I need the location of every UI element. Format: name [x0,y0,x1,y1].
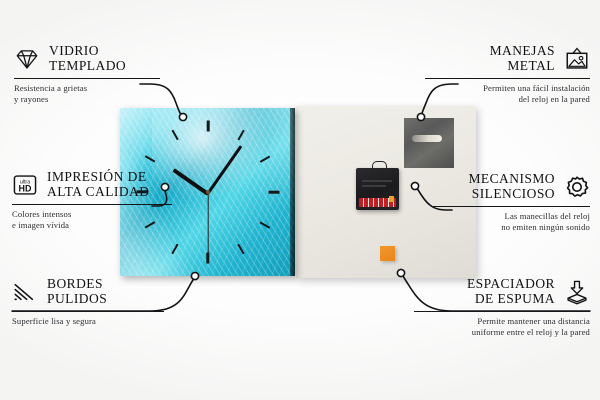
feature-manejas-metal: MANEJAS METAL Permiten una fácil instala… [415,44,590,104]
feature-rule [432,206,590,207]
diamond-icon [14,46,40,72]
leader-dot-bordes [191,272,198,279]
feature-subtitle: Permiten una fácil instalación del reloj… [415,83,590,104]
feature-title: VIDRIO TEMPLADO [49,44,126,73]
clock-center-pin [206,190,210,194]
feature-rule [425,78,590,79]
feature-mecanismo-silencioso: MECANISMO SILENCIOSO Las manecillas del … [422,172,590,232]
feature-title: MANEJAS METAL [490,44,555,73]
foam-spacer-icon [564,279,590,305]
feature-subtitle: Las manecillas del reloj no emiten ningú… [422,211,590,232]
leader-dot-mecanismo [411,182,418,189]
feature-title: BORDES PULIDOS [47,277,107,306]
leader-dot-manejas [417,113,424,120]
feature-subtitle: Resistencia a grietas y rayones [14,83,174,104]
feature-subtitle: Permite mantener una distancia uniforme … [404,316,590,337]
feature-subtitle: Superficie lisa y segura [12,316,172,327]
leader-dot-vidrio [179,113,186,120]
feature-espaciador-espuma: ESPACIADOR DE ESPUMA Permite mantener un… [404,277,590,337]
polished-edge-icon [12,279,38,305]
feature-subtitle: Colores intensos e imagen vívida [12,209,182,230]
svg-text:HD: HD [19,183,32,193]
feature-title: ESPACIADOR DE ESPUMA [467,277,555,306]
feature-title: MECANISMO SILENCIOSO [468,172,555,201]
feature-bordes-pulidos: BORDES PULIDOS Superficie lisa y segura [12,277,172,327]
feature-rule [12,311,164,312]
product-infographic: VIDRIO TEMPLADO Resistencia a grietas y … [0,0,600,400]
gear-icon [564,174,590,200]
feature-rule [14,78,160,79]
picture-hanger-icon [564,46,590,72]
feature-impresion-alta-calidad: ultra HD IMPRESIÓN DE ALTA CALIDAD Color… [12,170,182,230]
ultra-hd-icon: ultra HD [12,172,38,198]
feature-rule [12,204,172,205]
feature-rule [414,311,590,312]
feature-title: IMPRESIÓN DE ALTA CALIDAD [47,170,149,199]
feature-vidrio-templado: VIDRIO TEMPLADO Resistencia a grietas y … [14,44,174,104]
leader-dot-espaciador [397,269,404,276]
